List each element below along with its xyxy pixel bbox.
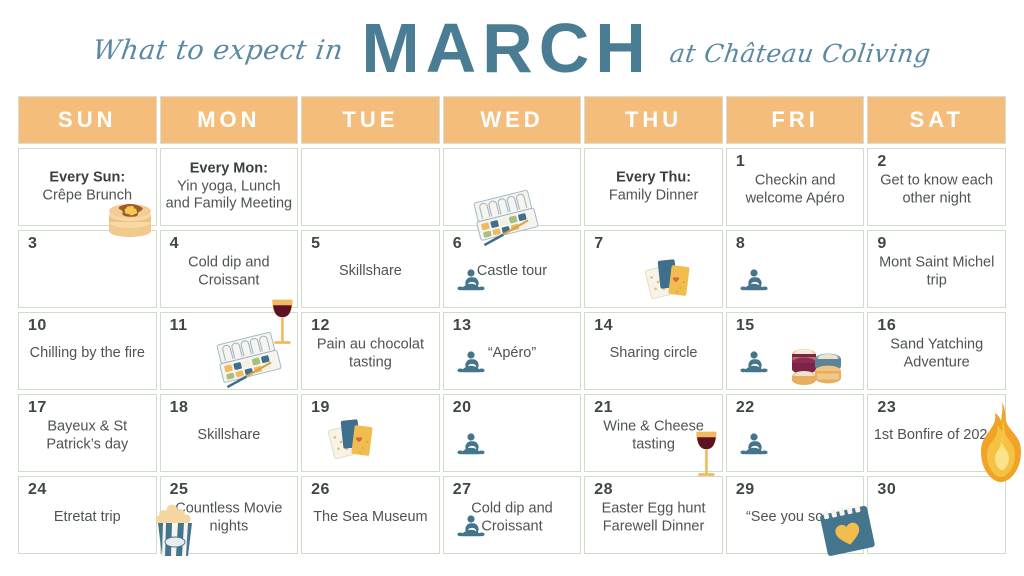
day-number: 5 (311, 235, 320, 253)
day-number: 10 (28, 317, 47, 335)
day-event-description: Mont Saint Michel trip (879, 254, 994, 288)
day-event-text: Mont Saint Michel trip (868, 254, 1005, 289)
header-script-right: at Château Coliving (668, 39, 933, 68)
weekday-header-wed: WED (443, 96, 582, 144)
day-event-description: Sand Yatching Adventure (890, 336, 983, 370)
day-number: 15 (736, 317, 755, 335)
calendar-day-cell[interactable]: 18Skillshare (160, 394, 299, 472)
calendar-day-cell[interactable]: 10Chilling by the fire (18, 312, 157, 390)
calendar-day-cell[interactable]: Every Sun:Crêpe Brunch (18, 148, 157, 226)
day-event-text: Sand Yatching Adventure (868, 336, 1005, 371)
header-script-left: What to expect in (91, 35, 345, 66)
day-event-description: Crêpe Brunch (43, 187, 132, 203)
day-event-description: “Apéro” (488, 345, 536, 361)
day-number: 6 (453, 235, 462, 253)
day-event-description: Cold dip and Croissant (188, 254, 269, 288)
day-event-text: Castle tour (444, 263, 581, 281)
calendar-day-cell[interactable]: 9Mont Saint Michel trip (867, 230, 1006, 308)
day-number: 9 (877, 235, 886, 253)
calendar-day-cell[interactable] (443, 148, 582, 226)
day-event-text: Get to know each other night (868, 172, 1005, 207)
calendar-day-cell[interactable]: 27Cold dip and Croissant (443, 476, 582, 554)
day-event-text: Checkin and welcome Apéro (727, 172, 864, 207)
day-number: 27 (453, 481, 472, 499)
day-event-description: Pain au chocolat tasting (317, 336, 424, 370)
calendar-day-cell[interactable]: 14Sharing circle (584, 312, 723, 390)
day-number: 21 (594, 399, 613, 417)
calendar-day-cell[interactable]: 21Wine & Cheese tasting (584, 394, 723, 472)
day-event-label: Every Mon: (166, 160, 293, 178)
day-event-label: Every Sun: (24, 169, 151, 187)
day-event-text: Etretat trip (19, 509, 156, 527)
weekday-header-row: SUN MON TUE WED THU FRI SAT (18, 96, 1006, 144)
day-event-text: Cold dip and Croissant (444, 500, 581, 535)
day-number: 2 (877, 153, 886, 171)
day-event-description: Skillshare (339, 263, 402, 279)
calendar-day-cell[interactable] (301, 148, 440, 226)
day-event-description: Skillshare (197, 427, 260, 443)
day-event-label: Every Thu: (590, 169, 717, 187)
day-event-text: 1st Bonfire of 2024! (868, 427, 1005, 445)
weekday-header-thu: THU (584, 96, 723, 144)
day-number: 3 (28, 235, 37, 253)
weekday-header-sun: SUN (18, 96, 157, 144)
calendar-day-cell[interactable]: 231st Bonfire of 2024! (867, 394, 1006, 472)
day-event-text: Bayeux & St Patrick’s day (19, 418, 156, 453)
calendar-day-cell[interactable]: 15 (726, 312, 865, 390)
day-event-description: Family Dinner (609, 187, 698, 203)
calendar-day-cell[interactable]: 8 (726, 230, 865, 308)
calendar-day-cell[interactable]: 6Castle tour (443, 230, 582, 308)
day-event-description: Etretat trip (54, 509, 121, 525)
day-event-text: Every Thu:Family Dinner (585, 169, 722, 204)
day-event-description: Cold dip and Croissant (471, 500, 552, 534)
day-number: 19 (311, 399, 330, 417)
weekday-header-fri: FRI (726, 96, 865, 144)
day-event-text: “Apéro” (444, 345, 581, 363)
calendar-week-row: 24Etretat trip25Countless Movie nights26… (18, 476, 1006, 554)
calendar-grid: SUN MON TUE WED THU FRI SAT Every Sun:Cr… (18, 96, 1006, 558)
day-number: 18 (170, 399, 189, 417)
calendar-day-cell[interactable]: 5Skillshare (301, 230, 440, 308)
day-number: 8 (736, 235, 745, 253)
day-event-text: Skillshare (161, 427, 298, 445)
day-number: 29 (736, 481, 755, 499)
day-event-description: Yin yoga, Lunch and Family Meeting (166, 178, 293, 212)
day-event-text: Sharing circle (585, 345, 722, 363)
day-event-description: 1st Bonfire of 2024! (874, 427, 1000, 443)
day-number: 23 (877, 399, 896, 417)
calendar-day-cell[interactable]: 7 (584, 230, 723, 308)
day-event-text: Easter Egg hunt Farewell Dinner (585, 500, 722, 535)
calendar-day-cell[interactable]: 4Cold dip and Croissant (160, 230, 299, 308)
calendar-day-cell[interactable]: Every Mon:Yin yoga, Lunch and Family Mee… (160, 148, 299, 226)
day-event-text: Every Sun:Crêpe Brunch (19, 169, 156, 204)
day-event-text: The Sea Museum (302, 509, 439, 527)
calendar-week-row: Every Sun:Crêpe BrunchEvery Mon:Yin yoga… (18, 148, 1006, 226)
calendar-day-cell[interactable]: 29“See you soon” (726, 476, 865, 554)
day-event-description: Get to know each other night (880, 172, 993, 206)
day-event-description: “See you soon” (746, 509, 844, 525)
calendar-day-cell[interactable]: 22 (726, 394, 865, 472)
day-number: 24 (28, 481, 47, 499)
weekday-header-sat: SAT (867, 96, 1006, 144)
day-number: 16 (877, 317, 896, 335)
calendar-day-cell[interactable]: 3 (18, 230, 157, 308)
day-number: 17 (28, 399, 47, 417)
day-event-text: Countless Movie nights (161, 500, 298, 535)
calendar-day-cell[interactable]: 28Easter Egg hunt Farewell Dinner (584, 476, 723, 554)
calendar-day-cell[interactable]: 24Etretat trip (18, 476, 157, 554)
day-event-description: Bayeux & St Patrick’s day (46, 418, 128, 452)
calendar-day-cell[interactable]: 13“Apéro” (443, 312, 582, 390)
day-number: 14 (594, 317, 613, 335)
day-event-text: Wine & Cheese tasting (585, 418, 722, 453)
day-number: 20 (453, 399, 472, 417)
calendar-day-cell[interactable]: Every Thu:Family Dinner (584, 148, 723, 226)
day-number: 28 (594, 481, 613, 499)
day-event-description: Wine & Cheese tasting (603, 418, 704, 452)
day-number: 1 (736, 153, 745, 171)
calendar-day-cell[interactable]: 12Pain au chocolat tasting (301, 312, 440, 390)
day-event-description: The Sea Museum (313, 509, 427, 525)
day-event-text: Pain au chocolat tasting (302, 336, 439, 371)
day-number: 7 (594, 235, 603, 253)
weekday-header-mon: MON (160, 96, 299, 144)
calendar-day-cell[interactable]: 11 (160, 312, 299, 390)
calendar-day-cell[interactable]: 25Countless Movie nights (160, 476, 299, 554)
calendar-day-cell[interactable]: 16Sand Yatching Adventure (867, 312, 1006, 390)
calendar-day-cell[interactable]: 17Bayeux & St Patrick’s day (18, 394, 157, 472)
calendar-day-cell[interactable]: 2Get to know each other night (867, 148, 1006, 226)
day-event-description: Easter Egg hunt Farewell Dinner (602, 500, 706, 534)
day-event-description: Chilling by the fire (30, 345, 145, 361)
day-event-text: Every Mon:Yin yoga, Lunch and Family Mee… (161, 160, 298, 213)
day-number: 22 (736, 399, 755, 417)
calendar-day-cell[interactable]: 19 (301, 394, 440, 472)
day-event-description: Castle tour (477, 263, 547, 279)
calendar-day-cell[interactable]: 30 (867, 476, 1006, 554)
calendar-week-row: 34Cold dip and Croissant5Skillshare6Cast… (18, 230, 1006, 308)
day-event-text: Skillshare (302, 263, 439, 281)
day-number: 13 (453, 317, 472, 335)
calendar-day-cell[interactable]: 20 (443, 394, 582, 472)
calendar-day-cell[interactable]: 26The Sea Museum (301, 476, 440, 554)
day-event-text: Cold dip and Croissant (161, 254, 298, 289)
page-title: MARCH (361, 13, 652, 83)
day-number: 26 (311, 481, 330, 499)
day-event-description: Checkin and welcome Apéro (746, 172, 845, 206)
day-number: 11 (170, 317, 188, 335)
day-event-description: Sharing circle (610, 345, 698, 361)
day-event-description: Countless Movie nights (175, 500, 282, 534)
day-number: 30 (877, 481, 896, 499)
day-event-text: “See you soon” (727, 509, 864, 527)
day-event-text: Chilling by the fire (19, 345, 156, 363)
day-number: 25 (170, 481, 189, 499)
page-header: What to expect in MARCH at Château Coliv… (0, 0, 1024, 96)
day-number: 12 (311, 317, 330, 335)
calendar-weeks: Every Sun:Crêpe BrunchEvery Mon:Yin yoga… (18, 148, 1006, 554)
calendar-day-cell[interactable]: 1Checkin and welcome Apéro (726, 148, 865, 226)
weekday-header-tue: TUE (301, 96, 440, 144)
day-number: 4 (170, 235, 179, 253)
calendar-week-row: 10Chilling by the fire1112Pain au chocol… (18, 312, 1006, 390)
calendar-week-row: 17Bayeux & St Patrick’s day18Skillshare1… (18, 394, 1006, 472)
